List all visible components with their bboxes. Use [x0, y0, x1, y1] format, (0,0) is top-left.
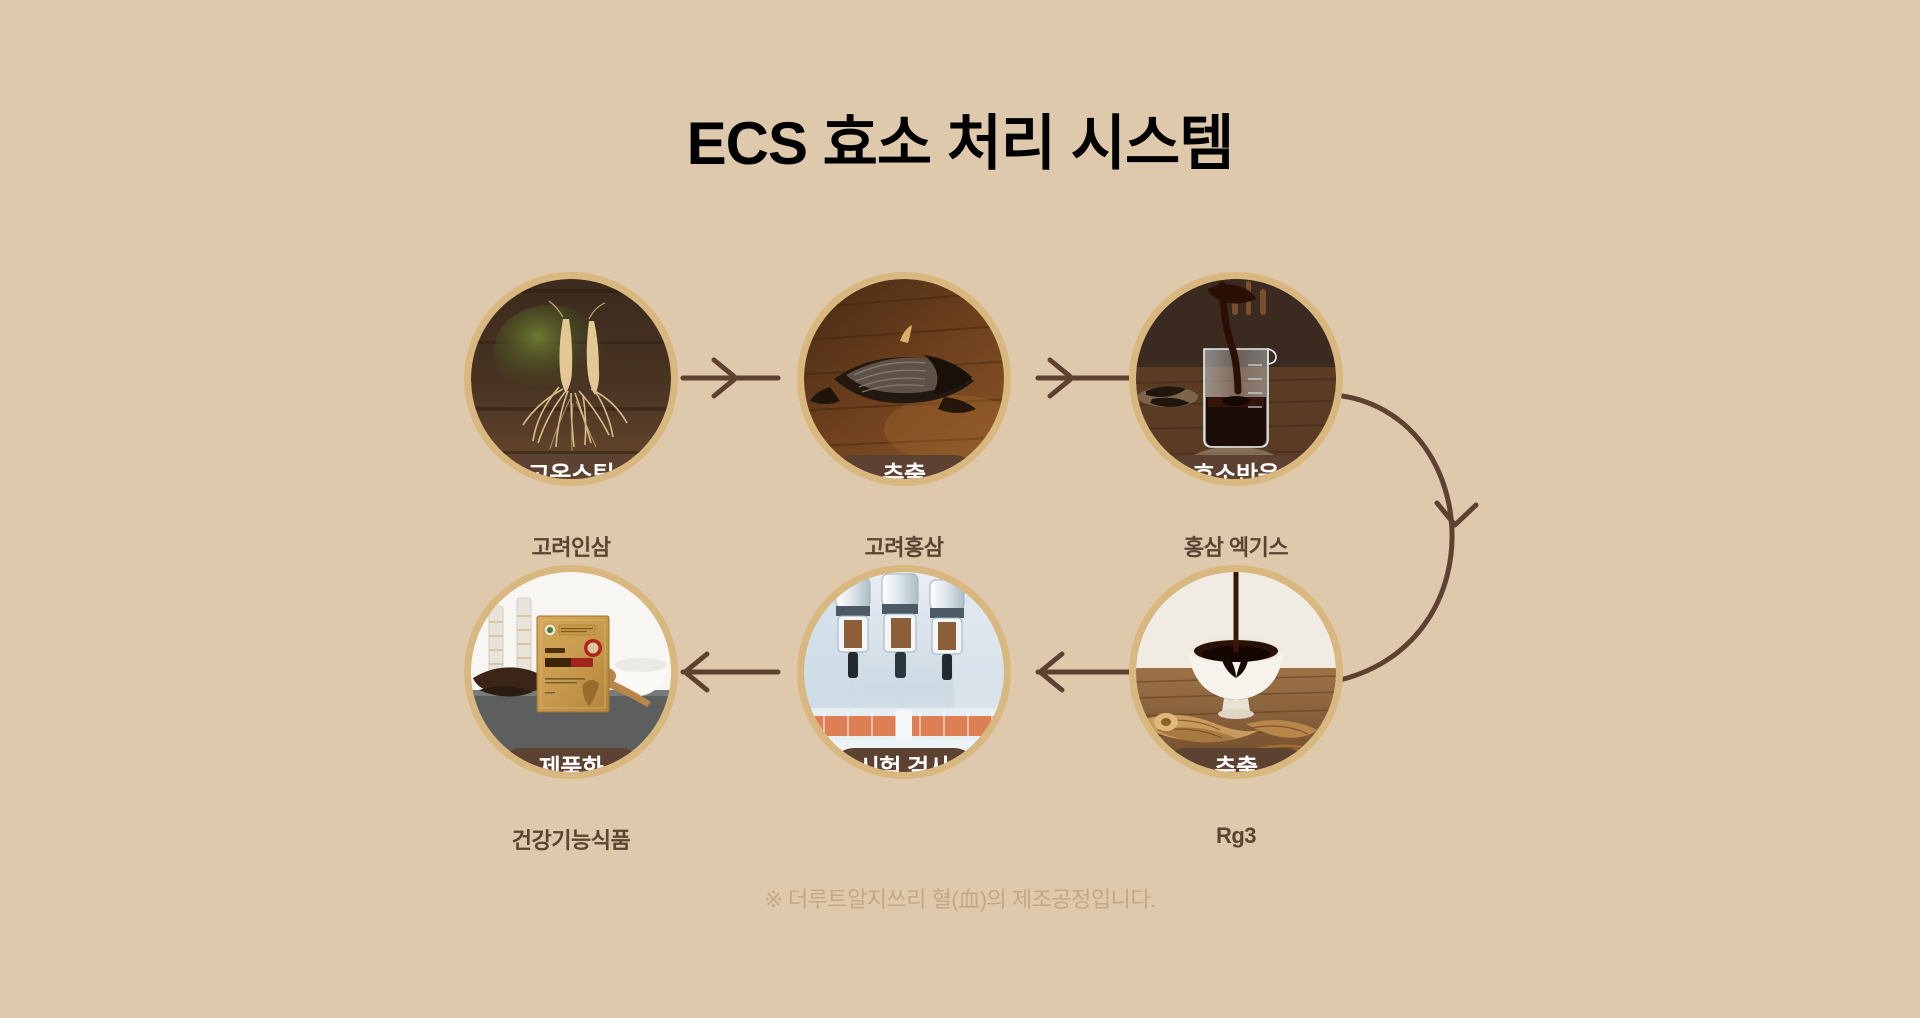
rg3-extract-bowl-image [1136, 572, 1336, 772]
connector-step3-to-step4 [1335, 395, 1476, 680]
process-flow-diagram: 고온스팀 고려인삼 [0, 0, 1920, 1018]
step-1-badge[interactable]: 고온스팀 [499, 455, 643, 486]
step-2-caption: 고려홍삼 [797, 530, 1011, 562]
connector-step4-to-step5 [1038, 654, 1133, 690]
step-6-caption: 건강기능식품 [464, 823, 678, 855]
step-2-badge[interactable]: 추출 [832, 455, 976, 486]
step-6-badge[interactable]: 제품화 [499, 748, 643, 779]
process-step-3[interactable]: 효소반응 홍삼 엑기스 [1129, 272, 1343, 562]
step-5-badge[interactable]: 시험 검사 [832, 748, 976, 779]
step-5-circle: 시험 검사 [797, 565, 1011, 779]
fresh-ginseng-roots-image [471, 279, 671, 479]
ecs-process-diagram-page: ECS 효소 처리 시스템 [0, 0, 1920, 1018]
process-step-1[interactable]: 고온스팀 고려인삼 [464, 272, 678, 562]
connector-step1-to-step2 [683, 360, 778, 396]
step-4-badge[interactable]: 추출 [1164, 748, 1308, 779]
process-step-4[interactable]: 추출 Rg3 [1129, 565, 1343, 849]
step-2-circle: 추출 [797, 272, 1011, 486]
connector-step5-to-step6 [683, 654, 778, 690]
step-4-circle: 추출 [1129, 565, 1343, 779]
process-step-6[interactable]: 제품화 건강기능식품 [464, 565, 678, 855]
step-3-caption: 홍삼 엑기스 [1129, 530, 1343, 562]
product-package-image [471, 572, 671, 772]
step-1-caption: 고려인삼 [464, 530, 678, 562]
step-1-circle: 고온스팀 [464, 272, 678, 486]
step-3-badge[interactable]: 효소반응 [1164, 455, 1308, 486]
step-6-circle: 제품화 [464, 565, 678, 779]
lab-testing-pipettes-image [804, 572, 1004, 772]
process-step-2[interactable]: 추출 고려홍삼 [797, 272, 1011, 562]
connector-step2-to-step3 [1038, 360, 1133, 396]
enzyme-reaction-beaker-image [1136, 279, 1336, 479]
dried-red-ginseng-image [804, 279, 1004, 479]
step-4-caption: Rg3 [1129, 823, 1343, 849]
step-3-circle: 효소반응 [1129, 272, 1343, 486]
process-step-5[interactable]: 시험 검사 [797, 565, 1011, 823]
footnote-text: ※ 더루트알지쓰리 혈(血)의 제조공정입니다. [0, 882, 1920, 914]
